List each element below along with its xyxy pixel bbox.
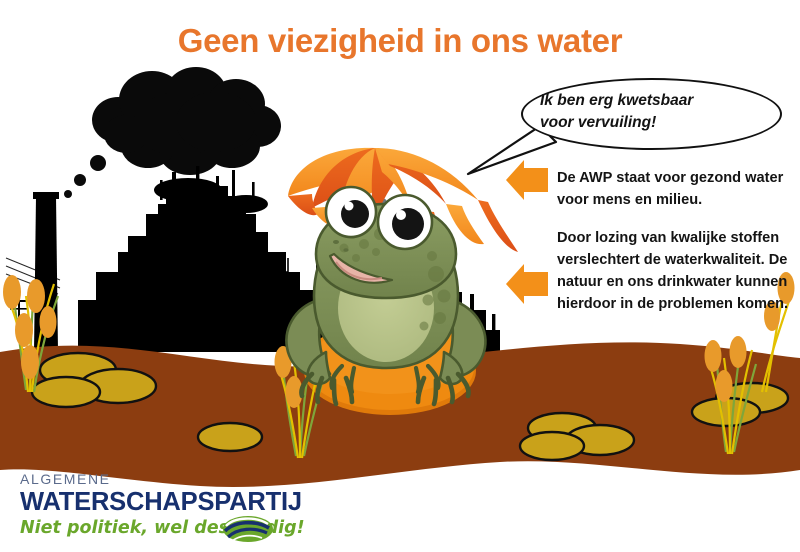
logo-line-waterschapspartij: WATERSCHAPSPARTIJ xyxy=(20,488,305,517)
logo-line-algemene: ALGEMENE xyxy=(20,472,305,487)
lilypad-mid xyxy=(198,423,262,451)
polluted-water xyxy=(0,342,800,487)
callout-lozing: Door lozing van kwalijke stoffen verslec… xyxy=(557,228,797,316)
lilypad-cluster-left xyxy=(32,353,156,407)
lilypad-cluster-far-right xyxy=(692,383,788,426)
left-arrow-icon-1 xyxy=(506,160,548,200)
infographic-poster: Geen viezigheid in ons water xyxy=(0,0,800,552)
orange-lilypad-top xyxy=(306,320,474,404)
umbrella xyxy=(288,148,518,290)
callout-lozing-text: Door lozing van kwalijke stoffen verslec… xyxy=(557,228,797,316)
speech-bubble-text: Ik ben erg kwetsbaar voor vervuiling! xyxy=(540,90,772,134)
callout-awp: De AWP staat voor gezond water voor mens… xyxy=(557,168,795,212)
factory-silhouette xyxy=(6,166,500,352)
cattail-reeds-mid xyxy=(275,342,327,458)
speech-bubble-line-2: voor vervuiling! xyxy=(540,112,772,134)
swoosh-wave-mark xyxy=(222,514,274,544)
frog-character xyxy=(286,187,485,404)
speech-bubble-line-1: Ik ben erg kwetsbaar xyxy=(540,90,772,112)
left-arrow-icon-2 xyxy=(506,264,548,304)
cattail-reeds-left xyxy=(3,275,58,392)
orange-lilypad xyxy=(304,326,476,415)
page-title: Geen viezigheid in ons water xyxy=(0,22,800,60)
smoke-cloud xyxy=(64,67,281,198)
lilypad-cluster-right xyxy=(520,413,634,460)
callout-awp-text: De AWP staat voor gezond water voor mens… xyxy=(557,168,795,212)
